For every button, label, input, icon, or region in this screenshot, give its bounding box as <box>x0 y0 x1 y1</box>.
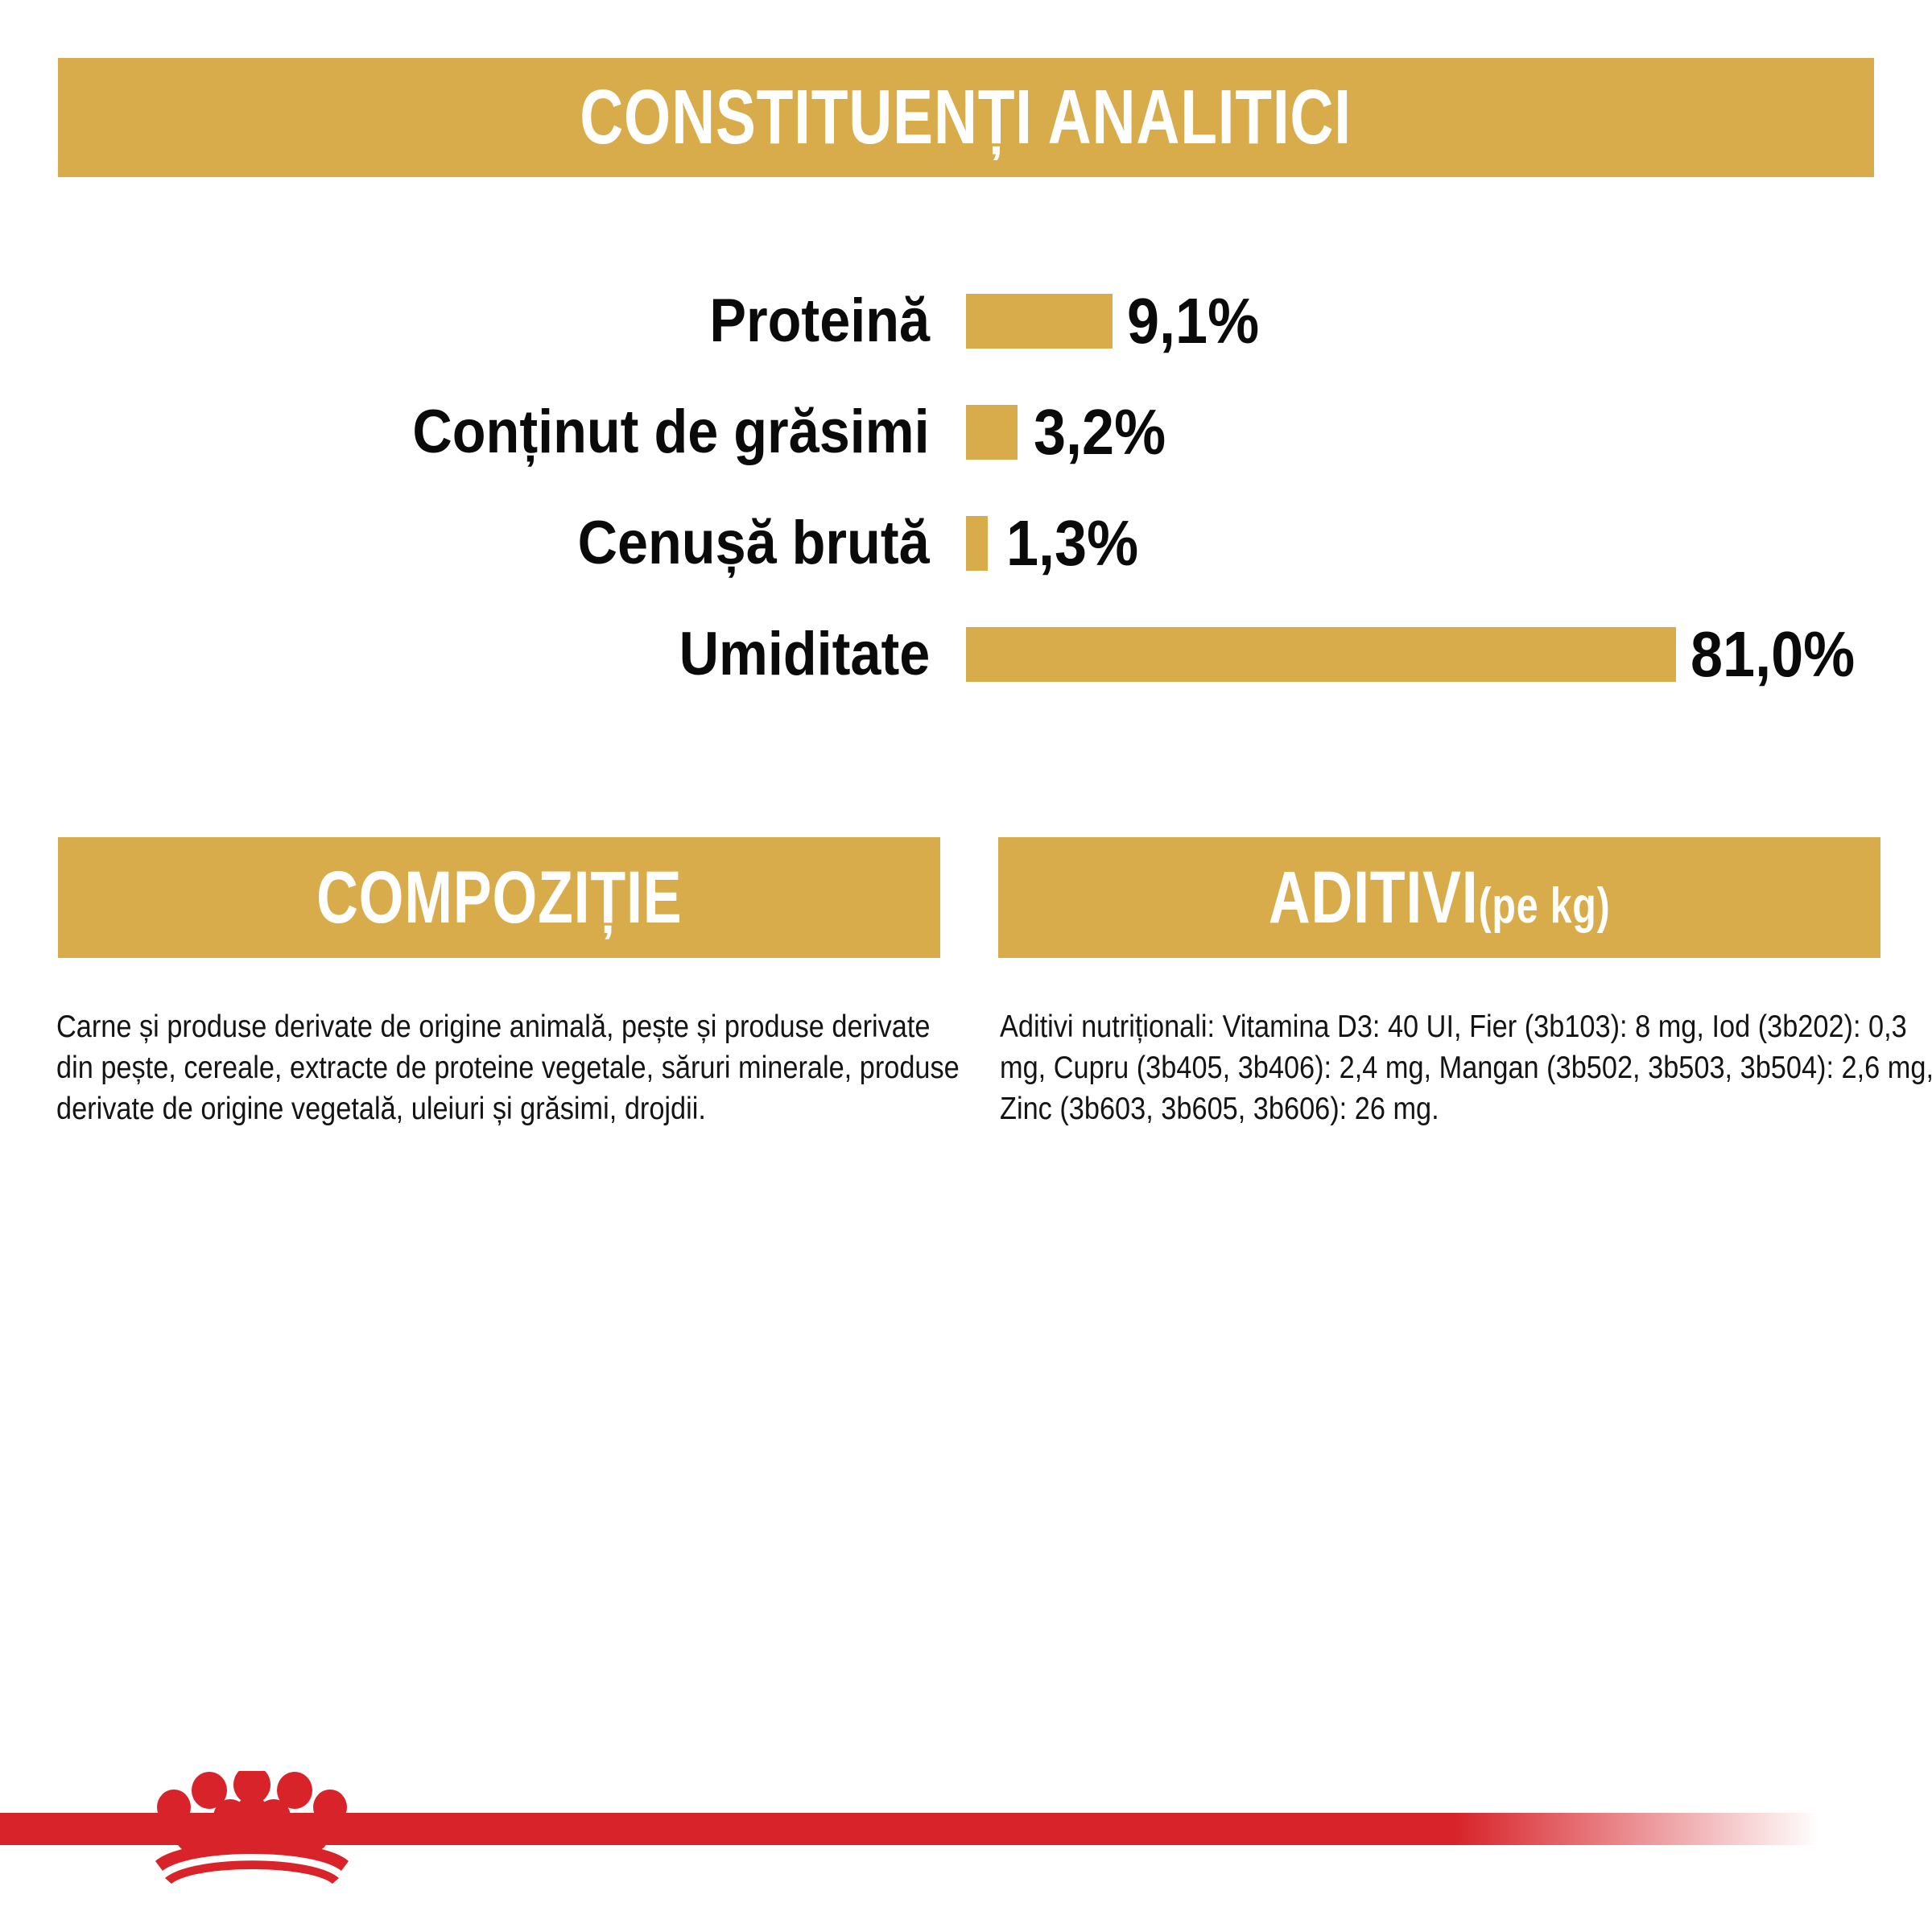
analytical-constituents-title: CONSTITUENȚI ANALITICI <box>580 79 1352 156</box>
chart-row: Umiditate 81,0% <box>0 599 1932 710</box>
chart-value-fat: 3,2% <box>1034 400 1166 464</box>
additives-title-suffix: (pe kg) <box>1478 878 1610 934</box>
chart-row: Conținut de grăsimi 3,2% <box>0 377 1932 488</box>
chart-value-moisture: 81,0% <box>1690 622 1855 687</box>
composition-banner: COMPOZIȚIE <box>58 837 940 958</box>
royal-canin-crown-logo <box>135 1771 369 1884</box>
chart-row: Proteină 9,1% <box>0 266 1932 377</box>
chart-row: Cenușă brută 1,3% <box>0 488 1932 599</box>
chart-label-ash: Cenușă brută <box>578 513 930 574</box>
additives-title: ADITIVI(pe kg) <box>1269 861 1611 935</box>
composition-body-text: Carne și produse derivate de origine ani… <box>56 1006 970 1129</box>
chart-label-protein: Proteină <box>709 291 930 352</box>
chart-bar-moisture <box>966 627 1676 682</box>
composition-title: COMPOZIȚIE <box>316 861 682 935</box>
chart-label-moisture: Umiditate <box>679 624 930 685</box>
chart-bar-fat <box>966 405 1018 460</box>
analytical-constituents-banner: CONSTITUENȚI ANALITICI <box>58 58 1874 177</box>
chart-value-ash: 1,3% <box>1006 511 1138 576</box>
chart-bar-ash <box>966 516 988 571</box>
additives-banner: ADITIVI(pe kg) <box>998 837 1880 958</box>
additives-title-main: ADITIVI <box>1269 857 1479 939</box>
footer <box>0 1771 1932 1932</box>
analytical-constituents-chart: Proteină 9,1% Conținut de grăsimi 3,2% C… <box>0 266 1932 710</box>
chart-label-fat: Conținut de grăsimi <box>413 402 930 463</box>
additives-body-text: Aditivi nutriționali: Vitamina D3: 40 UI… <box>1000 1006 1932 1129</box>
chart-bar-protein <box>966 294 1113 349</box>
chart-value-protein: 9,1% <box>1127 289 1259 353</box>
